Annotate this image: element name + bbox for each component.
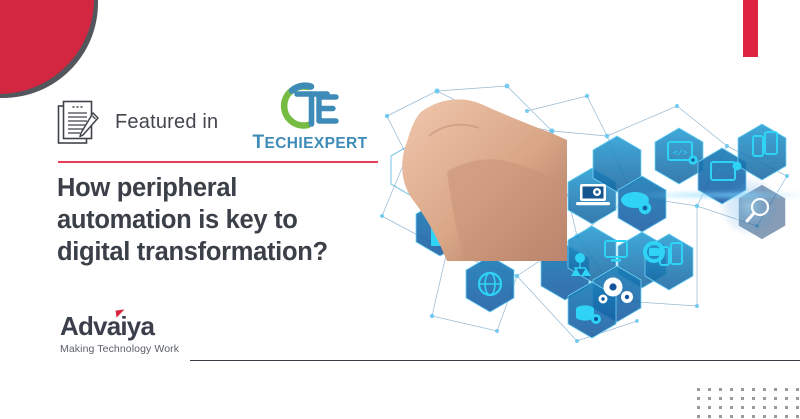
pointing-hand-graphic (377, 76, 567, 261)
techiexpert-logo[interactable]: TECHIEXPERT (250, 80, 370, 158)
featured-in-label: Featured in (115, 111, 218, 134)
advaiya-logo[interactable]: Advaiya Making Technology Work (60, 312, 190, 360)
advaiya-tagline: Making Technology Work (60, 343, 190, 355)
article-document-pencil-icon (57, 99, 101, 145)
divider-red (58, 161, 378, 163)
decor-circle-red (0, 0, 94, 94)
hero-image: </> (377, 76, 800, 347)
page-title: How peripheral automation is key to digi… (57, 172, 377, 268)
featured-in-row: Featured in (57, 96, 218, 148)
decor-dot-grid (697, 388, 800, 419)
banner-canvas: Featured in TECHIEXPERT How peripheral a… (0, 0, 800, 419)
techiexpert-wordmark-cap: T (252, 132, 264, 153)
divider-bottom (190, 360, 800, 361)
techiexpert-mark-icon (264, 80, 356, 132)
hero-glow-beam (631, 193, 800, 197)
svg-text:</>: </> (673, 148, 688, 157)
advaiya-name: Advaiya (60, 311, 154, 341)
advaiya-accent-mark (116, 309, 126, 317)
techiexpert-wordmark-rest: ECHIEXPERT (264, 135, 367, 152)
advaiya-wordmark: Advaiya (60, 312, 154, 340)
techiexpert-wordmark: TECHIEXPERT (250, 132, 370, 154)
decor-red-bar (743, 0, 758, 57)
